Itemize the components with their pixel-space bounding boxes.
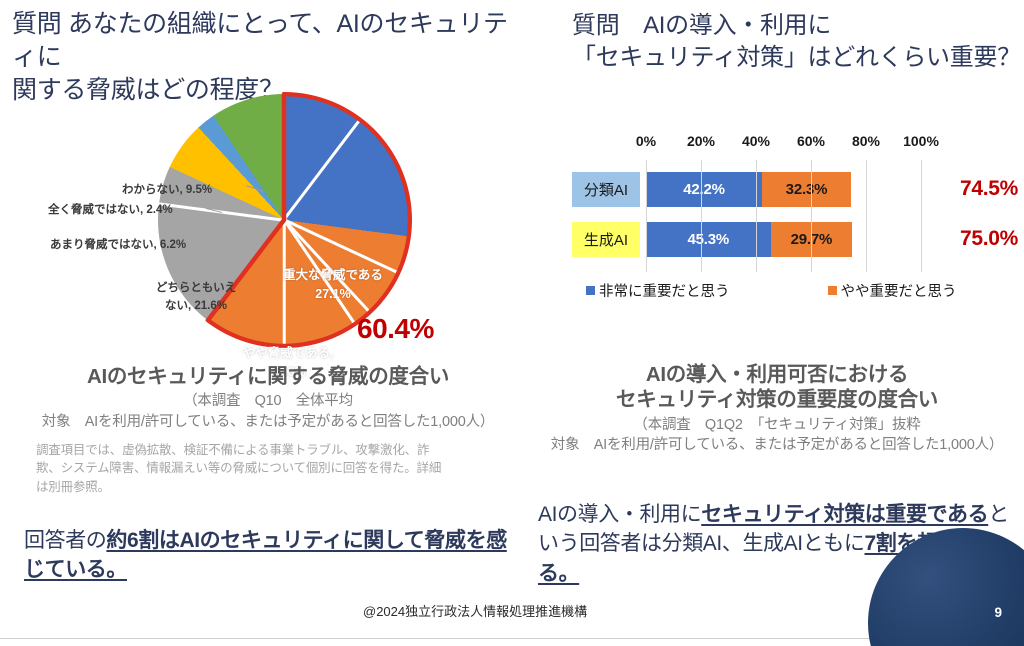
page-number: 9: [994, 605, 1002, 620]
gridline: [866, 160, 867, 272]
gridline: [756, 160, 757, 272]
pie-slice-label-major-threat: 重大な脅威である 27.1%: [268, 266, 398, 305]
pie-callout-not-at-all: 全く脅威ではない, 2.4%: [48, 201, 173, 217]
pie-chart: 重大な脅威である 27.1% やや脅威である, 33.3% わからない, 9.5…: [10, 88, 520, 356]
left-conclusion-prefix: 回答者の: [24, 529, 106, 552]
gridline: [701, 160, 702, 272]
gridline: [646, 160, 647, 272]
table-row: 42.2% 32.3%: [646, 172, 851, 207]
legend-swatch-icon: [828, 286, 837, 295]
bar-category-label-generative-ai: 生成AI: [572, 222, 640, 257]
footer-copyright: @2024独立行政法人情報処理推進機構: [363, 601, 587, 620]
legend-label: 非常に重要だと思う: [599, 280, 730, 301]
x-axis-tick-label: 0%: [636, 133, 656, 149]
left-caption-title: AIのセキュリティに関する脅威の度合い: [12, 364, 524, 389]
x-axis-tick-label: 60%: [797, 133, 825, 149]
right-caption-subtitle: （本調査 Q1Q2 「セキュリティ対策」抜粋 対象 AIを利用/許可している、ま…: [530, 415, 1024, 456]
legend-item-very-important: 非常に重要だと思う: [586, 280, 730, 301]
bar-category-label-classify-ai: 分類AI: [572, 172, 640, 207]
left-caption-block: AIのセキュリティに関する脅威の度合い （本調査 Q10 全体平均 対象 AIを…: [12, 364, 524, 496]
legend-item-somewhat-important: やや重要だと思う: [828, 280, 957, 301]
bar-plot-area: 42.2% 32.3% 45.3% 29.7% 0%20%40%60%80%10…: [646, 160, 921, 272]
slide: 質問 あなたの組織にとって、AIのセキュリティに 関する脅威はどの程度？ 重大な…: [0, 0, 1024, 646]
pie-callout-not-very: あまり脅威ではない, 6.2%: [50, 236, 186, 252]
x-axis-tick-label: 40%: [742, 133, 770, 149]
right-conclusion-part1: AIの導入・利用に: [538, 503, 701, 526]
pie-highlight-total: 60.4%: [357, 313, 434, 345]
right-caption-block: AIの導入・利用可否における セキュリティ対策の重要度の度合い （本調査 Q1Q…: [530, 362, 1024, 456]
legend-label: やや重要だと思う: [841, 280, 957, 301]
bar-segment-very-important: 45.3%: [646, 222, 771, 257]
bar-segment-somewhat-important: 32.3%: [762, 172, 851, 207]
x-axis-tick-label: 80%: [852, 133, 880, 149]
pie-callout-dont-know: わからない, 9.5%: [122, 181, 212, 197]
right-conclusion-part4: もに: [823, 532, 864, 555]
x-axis-tick-label: 100%: [903, 133, 939, 149]
bar-total-generative-ai: 75.0%: [960, 227, 1018, 251]
left-conclusion: 回答者の約6割はAIのセキュリティに関して脅威を感じている。: [24, 526, 524, 585]
pie-callout-neither: どちらともいえ ない, 21.6%: [144, 280, 248, 316]
gridline: [921, 160, 922, 272]
gridline: [811, 160, 812, 272]
bar-legend: 非常に重要だと思う やや重要だと思う: [582, 280, 1024, 301]
table-row: 45.3% 29.7%: [646, 222, 852, 257]
bar-total-classify-ai: 74.5%: [960, 177, 1018, 201]
bar-segment-very-important: 42.2%: [646, 172, 762, 207]
right-question-title: 質問 AIの導入・利用に 「セキュリティ対策」はどれくらい重要？: [572, 10, 1024, 73]
right-conclusion-emphasis-1: セキュリティ対策は重要である: [701, 503, 988, 526]
left-caption-note: 調査項目では、虚偽拡散、検証不備による事業トラブル、攻撃激化、詐 欺、システム障…: [12, 441, 524, 497]
legend-swatch-icon: [586, 286, 595, 295]
right-caption-title: AIの導入・利用可否における セキュリティ対策の重要度の度合い: [530, 362, 1024, 413]
left-caption-subtitle: （本調査 Q10 全体平均 対象 AIを利用/許可している、または予定があると回…: [12, 391, 524, 432]
pie-separator: [283, 119, 361, 221]
x-axis-tick-label: 20%: [687, 133, 715, 149]
bar-chart: 分類AI 生成AI 42.2% 32.3% 45.3% 29.7% 0%20%4…: [572, 132, 1024, 307]
